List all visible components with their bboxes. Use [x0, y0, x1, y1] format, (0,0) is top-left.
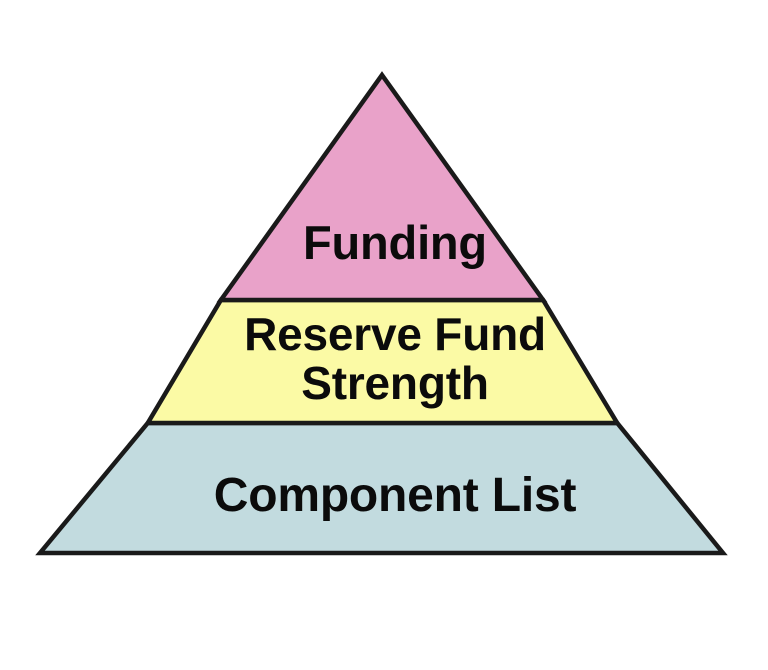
pyramid-tier-middle-shape — [148, 300, 617, 423]
pyramid-diagram-canvas: Funding Reserve Fund Strength Component … — [0, 0, 768, 670]
pyramid-tier-bottom-shape — [40, 423, 723, 553]
pyramid-shape-group — [0, 0, 768, 670]
pyramid-tier-top-shape — [221, 75, 543, 300]
